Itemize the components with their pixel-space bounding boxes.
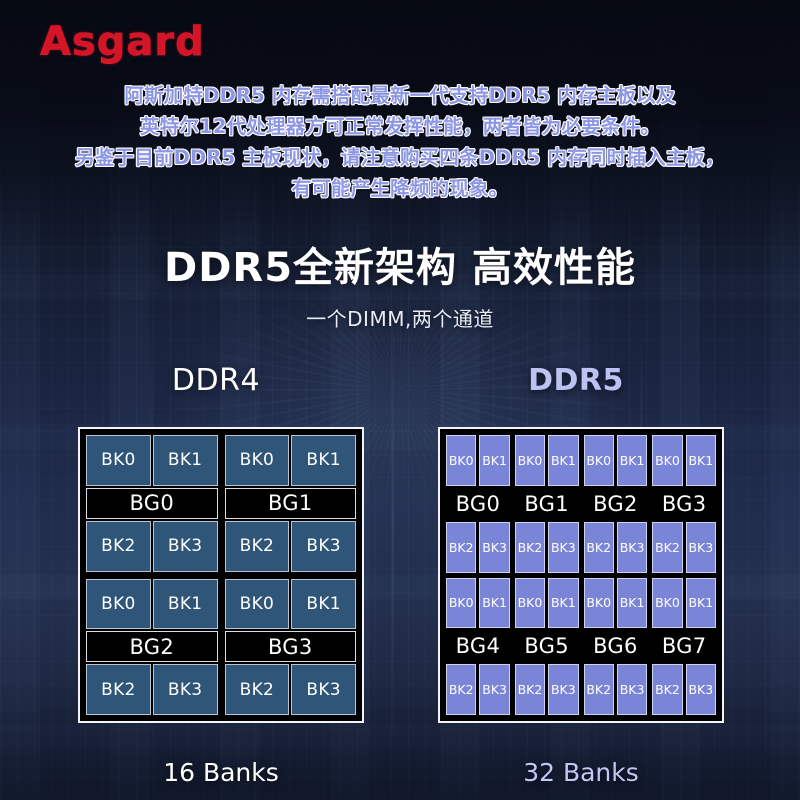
page-title: DDR5全新架构 高效性能 (0, 243, 800, 293)
ddr5-column-title: DDR5 (442, 362, 710, 400)
bank-row-top: BK0 BK1 (446, 435, 510, 486)
bank-row-top: BK0 BK1 (584, 578, 648, 629)
bank-group: BK0 BK1 BG2 BK2 BK3 (86, 579, 218, 716)
bank-row-bottom: BK2 BK3 (652, 664, 716, 715)
bank-row-bottom: BK2 BK3 (652, 522, 716, 573)
bank-group-label: BG6 (584, 630, 648, 662)
background-streak (392, 300, 394, 760)
bank-row-top: BK0 BK1 (86, 435, 218, 486)
bank-group: BK0 BK1 BG5 BK2 BK3 (515, 578, 579, 716)
bank-group-label: BG2 (584, 488, 648, 520)
bank-row-top: BK0 BK1 (584, 435, 648, 486)
bank-cell: BK2 (652, 522, 682, 573)
bank-cell: BK0 (584, 578, 614, 629)
bank-cell: BK2 (515, 664, 545, 715)
bank-cell: BK2 (584, 664, 614, 715)
bank-cell: BK2 (446, 522, 476, 573)
bank-group: BK0 BK1 BG0 BK2 BK3 (446, 435, 510, 573)
bank-cell: BK1 (617, 578, 647, 629)
bank-cell: BK0 (446, 435, 476, 486)
bank-group-label: BG0 (86, 488, 218, 519)
notice-line-2: 英特尔12代处理器方可正常发挥性能，两者皆为必要条件。 (40, 111, 760, 142)
bank-row-top: BK0 BK1 (652, 435, 716, 486)
bank-row-top: BK0 BK1 (446, 578, 510, 629)
bank-cell: BK0 (446, 578, 476, 629)
bank-group: BK0 BK1 BG6 BK2 BK3 (584, 578, 648, 716)
bank-cell: BK0 (225, 435, 290, 486)
bank-cell: BK2 (225, 664, 290, 715)
bank-row-bottom: BK2 BK3 (446, 522, 510, 573)
bank-cell: BK3 (291, 521, 356, 572)
bank-cell: BK0 (652, 578, 682, 629)
bank-cell: BK3 (548, 664, 578, 715)
bank-group: BK0 BK1 BG3 BK2 BK3 (225, 579, 357, 716)
bank-cell: BK2 (225, 521, 290, 572)
bank-cell: BK1 (548, 435, 578, 486)
bank-row-bottom: BK2 BK3 (225, 664, 357, 715)
bank-row-top: BK0 BK1 (652, 578, 716, 629)
bank-cell: BK1 (291, 435, 356, 486)
bank-cell: BK0 (225, 579, 290, 630)
bank-cell: BK2 (584, 522, 614, 573)
bank-cell: BK1 (548, 578, 578, 629)
bank-cell: BK0 (515, 578, 545, 629)
bank-cell: BK0 (86, 435, 151, 486)
bank-group: BK0 BK1 BG1 BK2 BK3 (225, 435, 357, 572)
bank-cell: BK0 (652, 435, 682, 486)
ddr5-bank-count-label: 32 Banks (438, 757, 724, 789)
bank-group: BK0 BK1 BG2 BK2 BK3 (584, 435, 648, 573)
bank-cell: BK1 (617, 435, 647, 486)
bank-row-bottom: BK2 BK3 (446, 664, 510, 715)
bank-group-label: BG4 (446, 630, 510, 662)
bank-cell: BK3 (548, 522, 578, 573)
bank-row-bottom: BK2 BK3 (86, 664, 218, 715)
bank-group: BK0 BK1 BG4 BK2 BK3 (446, 578, 510, 716)
bank-cell: BK1 (686, 578, 716, 629)
ddr4-column-title: DDR4 (82, 362, 350, 400)
bank-cell: BK0 (584, 435, 614, 486)
bank-cell: BK3 (686, 522, 716, 573)
bank-cell: BK3 (617, 664, 647, 715)
bank-group-label: BG5 (515, 630, 579, 662)
bank-cell: BK3 (686, 664, 716, 715)
bank-row-bottom: BK2 BK3 (86, 521, 218, 572)
bank-row-bottom: BK2 BK3 (225, 521, 357, 572)
bank-row-bottom: BK2 BK3 (515, 664, 579, 715)
bank-group-label: BG0 (446, 488, 510, 520)
notice-line-3: 另鉴于目前DDR5 主板现状，请注意购买四条DDR5 内存同时插入主板， (40, 142, 760, 173)
bank-row-top: BK0 BK1 (225, 435, 357, 486)
bank-cell: BK3 (617, 522, 647, 573)
bank-cell: BK2 (446, 664, 476, 715)
bank-cell: BK2 (86, 521, 151, 572)
bank-cell: BK0 (86, 579, 151, 630)
bank-group-label: BG2 (86, 631, 218, 662)
bank-row-bottom: BK2 BK3 (584, 664, 648, 715)
bank-group: BK0 BK1 BG1 BK2 BK3 (515, 435, 579, 573)
bank-row-top: BK0 BK1 (515, 435, 579, 486)
bank-group-label: BG7 (652, 630, 716, 662)
bank-row-top: BK0 BK1 (515, 578, 579, 629)
bank-group: BK0 BK1 BG7 BK2 BK3 (652, 578, 716, 716)
bank-cell: BK3 (479, 522, 509, 573)
ddr4-bank-count-label: 16 Banks (78, 757, 364, 789)
bank-cell: BK2 (652, 664, 682, 715)
bank-group: BK0 BK1 BG0 BK2 BK3 (86, 435, 218, 572)
bank-cell: BK2 (515, 522, 545, 573)
bank-cell: BK1 (153, 579, 218, 630)
notice-paragraph: 阿斯加特DDR5 内存需搭配最新一代支持DDR5 内存主板以及 英特尔12代处理… (40, 80, 760, 204)
bank-row-top: BK0 BK1 (225, 579, 357, 630)
ddr5-bank-grid: BK0 BK1 BG0 BK2 BK3 BK0 BK1 BG1 BK2 BK3 (446, 435, 716, 715)
ddr4-bank-grid: BK0 BK1 BG0 BK2 BK3 BK0 BK1 BG1 BK2 BK3 (86, 435, 356, 715)
bank-row-bottom: BK2 BK3 (584, 522, 648, 573)
ddr4-diagram-panel: BK0 BK1 BG0 BK2 BK3 BK0 BK1 BG1 BK2 BK3 (78, 427, 364, 723)
bank-group-label: BG1 (225, 488, 357, 519)
promo-page: Asgard 阿斯加特DDR5 内存需搭配最新一代支持DDR5 内存主板以及 英… (0, 0, 800, 800)
bank-row-top: BK0 BK1 (86, 579, 218, 630)
page-subtitle: 一个DIMM,两个通道 (0, 303, 800, 332)
bank-cell: BK3 (291, 664, 356, 715)
notice-line-4: 有可能产生降频的现象。 (40, 173, 760, 204)
bank-cell: BK3 (479, 664, 509, 715)
bank-group-label: BG1 (515, 488, 579, 520)
bank-row-bottom: BK2 BK3 (515, 522, 579, 573)
bank-cell: BK1 (479, 578, 509, 629)
bank-cell: BK0 (515, 435, 545, 486)
bank-group-label: BG3 (225, 631, 357, 662)
bank-cell: BK3 (153, 521, 218, 572)
bank-cell: BK1 (291, 579, 356, 630)
ddr5-diagram-panel: BK0 BK1 BG0 BK2 BK3 BK0 BK1 BG1 BK2 BK3 (438, 427, 724, 723)
bank-cell: BK3 (153, 664, 218, 715)
asgard-logo: Asgard (40, 22, 205, 62)
bank-cell: BK1 (686, 435, 716, 486)
bank-group-label: BG3 (652, 488, 716, 520)
bank-cell: BK1 (153, 435, 218, 486)
bank-cell: BK1 (479, 435, 509, 486)
bank-group: BK0 BK1 BG3 BK2 BK3 (652, 435, 716, 573)
notice-line-1: 阿斯加特DDR5 内存需搭配最新一代支持DDR5 内存主板以及 (40, 80, 760, 111)
bank-cell: BK2 (86, 664, 151, 715)
